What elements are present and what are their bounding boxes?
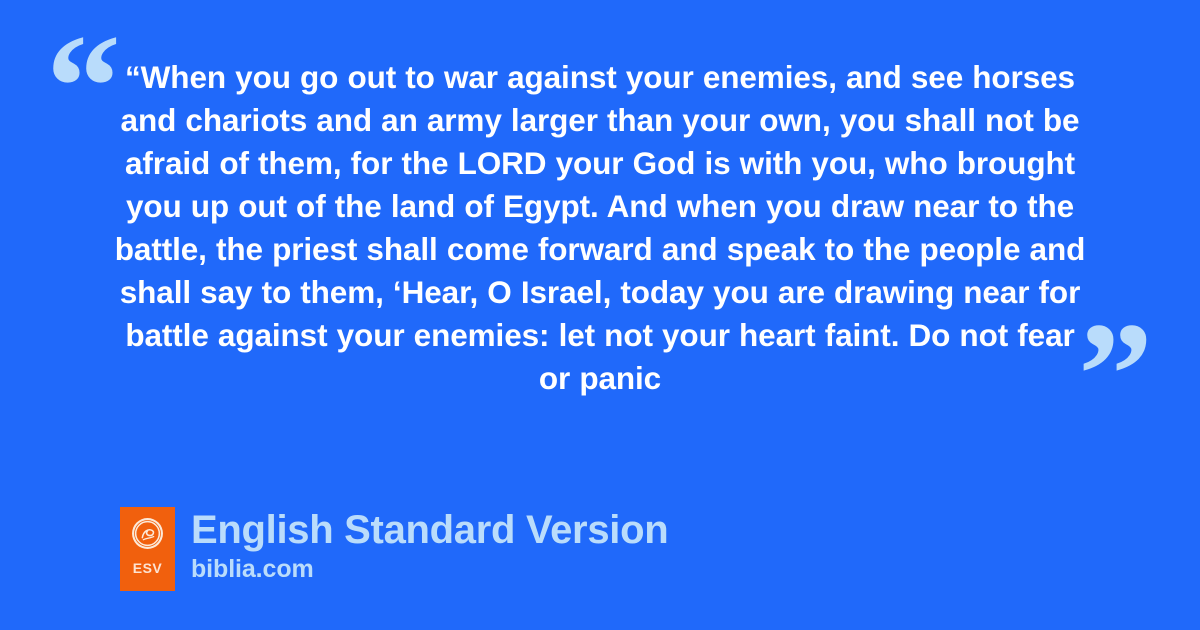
quote-block: “When you go out to war against your ene…: [112, 56, 1088, 400]
quote-card: “ “When you go out to war against your e…: [0, 0, 1200, 630]
site-url-label: biblia.com: [191, 555, 668, 583]
brand-text-group: English Standard Version biblia.com: [191, 507, 668, 583]
bible-version-title: English Standard Version: [191, 507, 668, 553]
esv-logo-label: ESV: [133, 561, 163, 575]
open-quote-icon: “: [46, 12, 119, 162]
quote-text: “When you go out to war against your ene…: [112, 56, 1088, 400]
brand-footer: ESV English Standard Version biblia.com: [120, 507, 668, 591]
esv-logo: ESV: [120, 507, 175, 591]
close-quote-icon: ”: [1078, 300, 1151, 450]
esv-seal-icon: [131, 517, 164, 550]
